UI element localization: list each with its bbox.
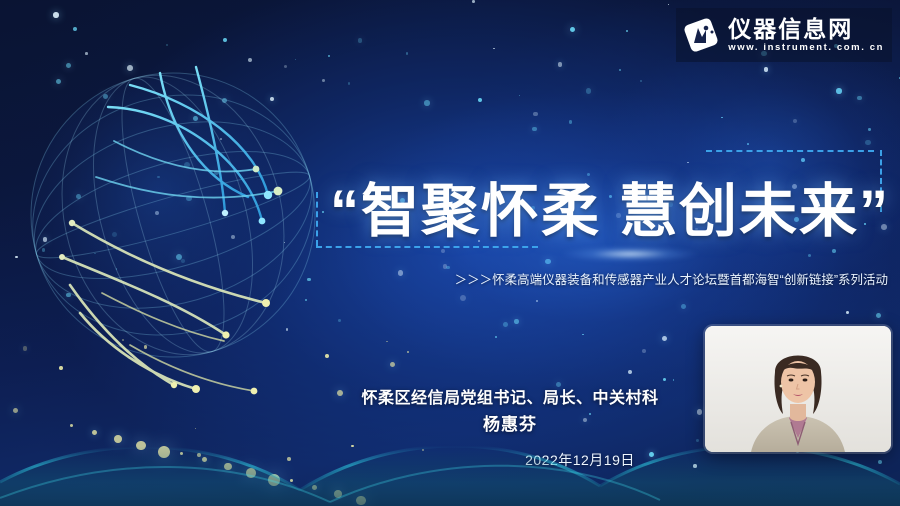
star-dot (287, 457, 291, 461)
star-dot (197, 453, 201, 457)
star-dot (514, 319, 519, 324)
star-dot (407, 351, 409, 353)
star-dot (793, 119, 798, 124)
star-dot (857, 96, 862, 101)
star-dot (180, 452, 183, 455)
star-dot (640, 80, 642, 82)
star-dot (334, 490, 342, 498)
wireframe-globe-icon (10, 45, 350, 400)
star-dot (696, 439, 699, 442)
star-dot (446, 266, 450, 270)
star-dot (764, 67, 769, 72)
star-dot (586, 88, 591, 93)
star-dot (503, 322, 508, 327)
star-dot (558, 62, 563, 67)
star-dot (495, 336, 497, 338)
star-dot (642, 349, 646, 353)
star-dot (398, 270, 403, 275)
star-dot (808, 254, 811, 257)
star-dot (136, 441, 146, 451)
star-dot (582, 334, 584, 336)
star-dot (747, 143, 749, 145)
star-dot (569, 120, 573, 124)
star-dot (865, 140, 870, 145)
star-dot (386, 341, 388, 343)
presentation-slide: “智聚怀柔 慧创未来” ＞＞＞怀柔高端仪器装备和传感器产业人才论坛暨首都海智“创… (0, 0, 900, 506)
title-glint (560, 246, 700, 262)
star-dot (478, 98, 482, 102)
star-dot (358, 38, 363, 43)
speaker-role: 怀柔区经信局党组书记、局长、中关村科 (300, 386, 720, 412)
speaker-portrait (705, 326, 891, 452)
star-dot (268, 474, 280, 486)
star-dot (836, 88, 841, 93)
star-dot (868, 128, 870, 130)
star-dot (663, 378, 666, 381)
star-dot (424, 100, 430, 106)
star-dot (846, 311, 849, 314)
star-dot (628, 370, 632, 374)
star-dot (878, 460, 882, 464)
star-dot (356, 496, 366, 506)
star-dot (472, 0, 475, 3)
star-dot (662, 336, 667, 341)
star-dot (312, 485, 317, 490)
star-dot (693, 464, 697, 468)
site-logo: 仪器信息网 www. instrument. com. cn (676, 8, 892, 62)
star-dot (536, 300, 538, 302)
diamond-monogram-icon (681, 15, 721, 55)
star-dot (460, 295, 466, 301)
star-dot (545, 259, 551, 265)
logo-url: www. instrument. com. cn (728, 42, 884, 54)
speaker-video-overlay[interactable] (705, 326, 891, 452)
star-dot (351, 445, 353, 447)
star-dot (195, 428, 197, 430)
event-date: 2022年12月19日 (470, 450, 690, 470)
star-dot (223, 38, 227, 42)
star-dot (406, 52, 409, 55)
logo-name-cn: 仪器信息网 (728, 17, 884, 42)
star-dot (158, 446, 170, 458)
speaker-block: 怀柔区经信局党组书记、局长、中关村科 杨惠芬 (300, 386, 720, 438)
star-dot (626, 30, 628, 32)
star-dot (390, 362, 395, 367)
event-subtitle: ＞＞＞怀柔高端仪器装备和传感器产业人才论坛暨首都海智“创新链接”系列活动 (420, 270, 888, 290)
star-dot (92, 430, 97, 435)
star-dot (114, 435, 122, 443)
star-dot (570, 27, 576, 33)
page-title: “智聚怀柔 慧创未来” (340, 162, 880, 250)
star-dot (532, 127, 536, 131)
star-dot (13, 408, 19, 414)
star-dot (668, 4, 669, 5)
star-dot (493, 48, 495, 50)
star-dot (70, 424, 73, 427)
star-dot (876, 313, 881, 318)
speaker-name: 杨惠芬 (300, 412, 720, 438)
star-dot (224, 463, 232, 471)
star-dot (681, 304, 686, 309)
star-dot (202, 457, 207, 462)
star-dot (290, 479, 293, 482)
star-dot (519, 95, 520, 96)
star-dot (73, 27, 77, 31)
star-dot (533, 112, 537, 116)
star-dot (619, 69, 621, 71)
star-dot (721, 117, 722, 118)
star-dot (673, 379, 675, 381)
star-dot (246, 468, 256, 478)
star-dot (53, 12, 59, 18)
star-dot (422, 449, 424, 451)
